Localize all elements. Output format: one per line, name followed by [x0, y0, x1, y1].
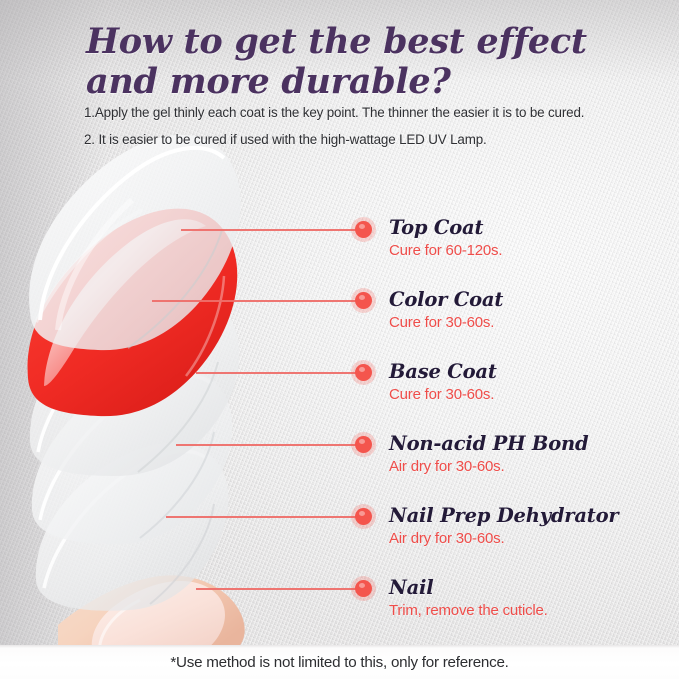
callout-desc: Cure for 60-120s. [389, 241, 502, 260]
nail-layer-artwork [0, 80, 330, 660]
marker-dot-base-coat [355, 364, 372, 381]
callout-name: Color Coat [389, 288, 503, 311]
marker-dot-color-coat [355, 292, 372, 309]
marker-dot-top-coat [355, 221, 372, 238]
callout-ph-bond: Non-acid PH Bond Air dry for 30-60s. [389, 432, 588, 476]
infographic-page: How to get the best effect and more dura… [0, 0, 679, 679]
callout-dehydrator: Nail Prep Dehydrator Air dry for 30-60s. [389, 504, 619, 548]
callout-base-coat: Base Coat Cure for 30-60s. [389, 360, 497, 404]
callout-nail: Nail Trim, remove the cuticle. [389, 576, 548, 620]
instruction-line-1: 1.Apply the gel thinly each coat is the … [84, 105, 584, 120]
callout-desc: Cure for 30-60s. [389, 385, 497, 404]
callout-name: Base Coat [389, 360, 497, 383]
callout-top-coat: Top Coat Cure for 60-120s. [389, 216, 502, 260]
callout-name: Nail Prep Dehydrator [389, 504, 619, 527]
title-line-2: and more durable? [86, 62, 646, 102]
callout-desc: Trim, remove the cuticle. [389, 601, 548, 620]
marker-dot-ph-bond [355, 436, 372, 453]
callout-desc: Air dry for 30-60s. [389, 529, 619, 548]
callout-name: Nail [389, 576, 548, 599]
footer-bar: *Use method is not limited to this, only… [0, 645, 679, 679]
callout-desc: Cure for 30-60s. [389, 313, 503, 332]
marker-dot-dehydrator [355, 508, 372, 525]
leader-line-dehydrator [166, 516, 357, 518]
callout-color-coat: Color Coat Cure for 30-60s. [389, 288, 503, 332]
footer-note: *Use method is not limited to this, only… [170, 654, 508, 671]
leader-line-nail [196, 588, 357, 590]
title-line-1: How to get the best effect [86, 21, 587, 62]
leader-line-ph-bond [176, 444, 357, 446]
instruction-line-2: 2. It is easier to be cured if used with… [84, 132, 487, 147]
callout-name: Top Coat [389, 216, 502, 239]
page-title: How to get the best effect and more dura… [86, 22, 646, 102]
leader-line-color-coat [152, 300, 357, 302]
marker-dot-nail [355, 580, 372, 597]
callout-name: Non-acid PH Bond [389, 432, 588, 455]
callout-desc: Air dry for 30-60s. [389, 457, 588, 476]
leader-line-top-coat [181, 229, 357, 231]
leader-line-base-coat [196, 372, 357, 374]
